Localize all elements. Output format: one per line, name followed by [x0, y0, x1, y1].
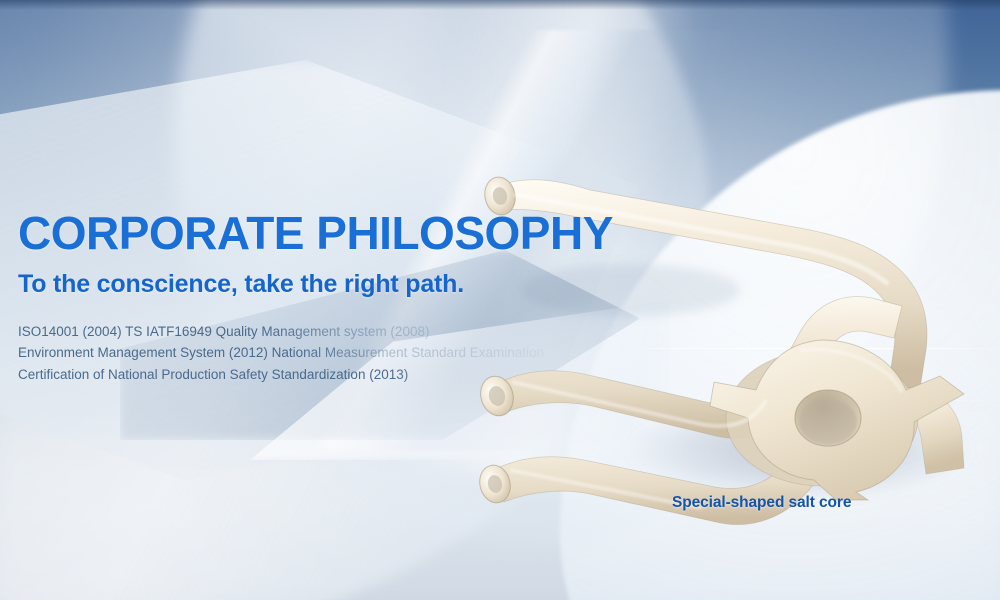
- certification-list: ISO14001 (2004) TS IATF16949 Quality Man…: [18, 321, 578, 386]
- product-center-hole-shadow: [799, 399, 857, 445]
- product-caption: Special-shaped salt core: [672, 494, 851, 512]
- certification-line: Environment Management System (2012) Nat…: [18, 342, 578, 364]
- background-top-vignette: [0, 0, 1000, 10]
- certification-line: Certification of National Production Saf…: [18, 364, 578, 386]
- headline-text-block: CORPORATE PHILOSOPHY To the conscience, …: [18, 210, 578, 385]
- page-title: CORPORATE PHILOSOPHY: [18, 210, 578, 258]
- corporate-philosophy-banner: CORPORATE PHILOSOPHY To the conscience, …: [0, 0, 1000, 600]
- page-subtitle: To the conscience, take the right path.: [18, 270, 578, 299]
- certification-line: ISO14001 (2004) TS IATF16949 Quality Man…: [18, 321, 578, 343]
